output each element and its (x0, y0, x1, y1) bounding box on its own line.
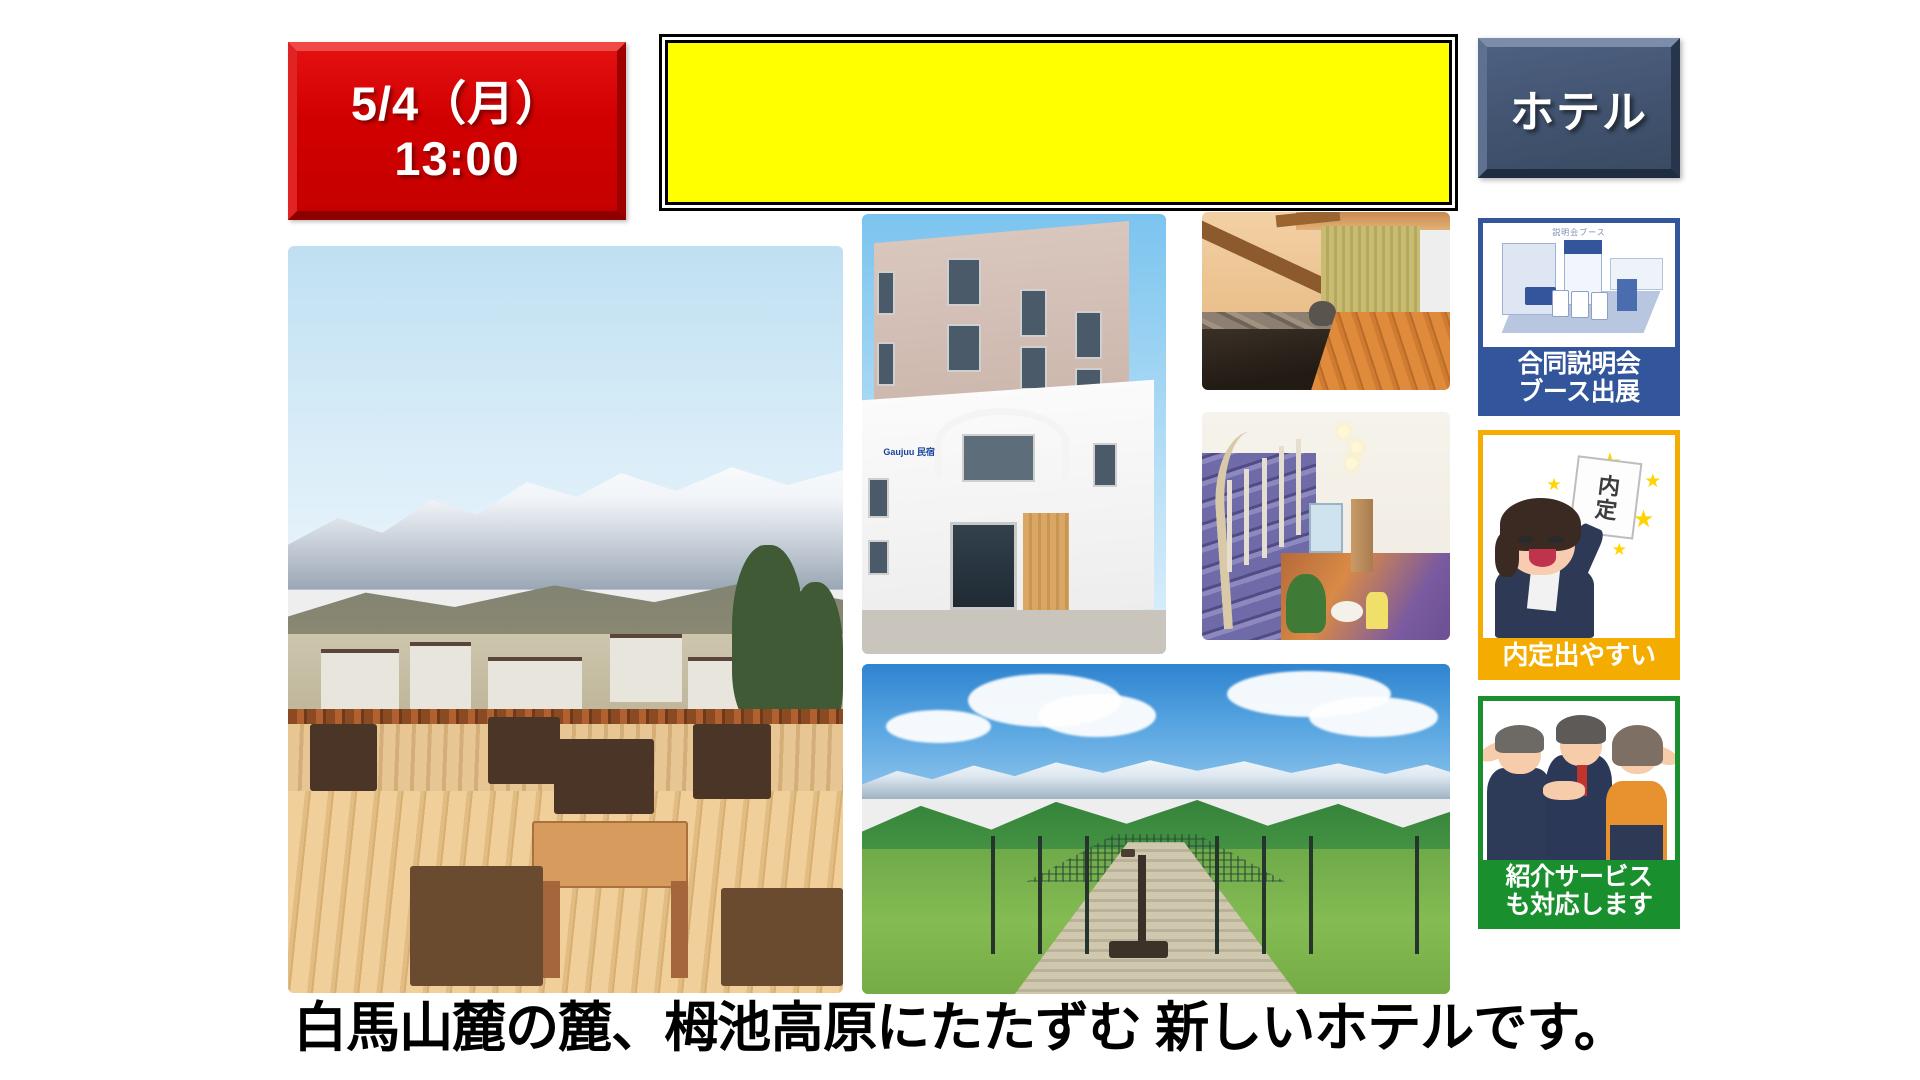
referral-service-people-icon (1483, 701, 1675, 860)
valley-boardwalk-photo (862, 664, 1450, 994)
date-badge-line-2: 13:00 (394, 131, 519, 186)
open-air-bath-photo (1202, 212, 1450, 390)
job-offer-celebration-icon: ★★★ ★★★ 内定 (1483, 435, 1675, 638)
badge-easy-offer-label: 内定出やすい (1483, 638, 1675, 675)
category-button-hotel[interactable]: ホテル (1478, 38, 1680, 178)
slide-caption: 白馬山麓の麓、栂池高原にたたずむ 新しいホテルです。 (0, 983, 1920, 1062)
slide-root: 5/4（月） 13:00 ホテル 説明会ブース 合同説明会 ブ (0, 0, 1920, 1080)
exhibition-booth-icon: 説明会ブース (1483, 223, 1675, 347)
date-time-badge: 5/4（月） 13:00 (288, 42, 626, 220)
badge-referral-service-label: 紹介サービス も対応します (1483, 860, 1675, 924)
offer-paper-text: 内定 (1592, 473, 1620, 523)
headline-box (665, 40, 1452, 205)
hotel-exterior-photo: Gaujuu 民宿 (862, 214, 1166, 654)
badge-referral-service[interactable]: 紹介サービス も対応します (1478, 696, 1680, 929)
terrace-view-photo (288, 246, 843, 993)
hotel-sign-text: Gaujuu 民宿 (883, 434, 935, 469)
lobby-staircase-photo (1202, 412, 1450, 640)
badge-easy-offer[interactable]: ★★★ ★★★ 内定 内定出やすい (1478, 430, 1680, 680)
badge-joint-session-label: 合同説明会 ブース出展 (1483, 347, 1675, 411)
booth-icon-caption: 説明会ブース (1483, 227, 1675, 238)
category-button-label: ホテル (1510, 76, 1648, 140)
badge-joint-session[interactable]: 説明会ブース 合同説明会 ブース出展 (1478, 218, 1680, 416)
date-badge-line-1: 5/4（月） (351, 76, 563, 131)
